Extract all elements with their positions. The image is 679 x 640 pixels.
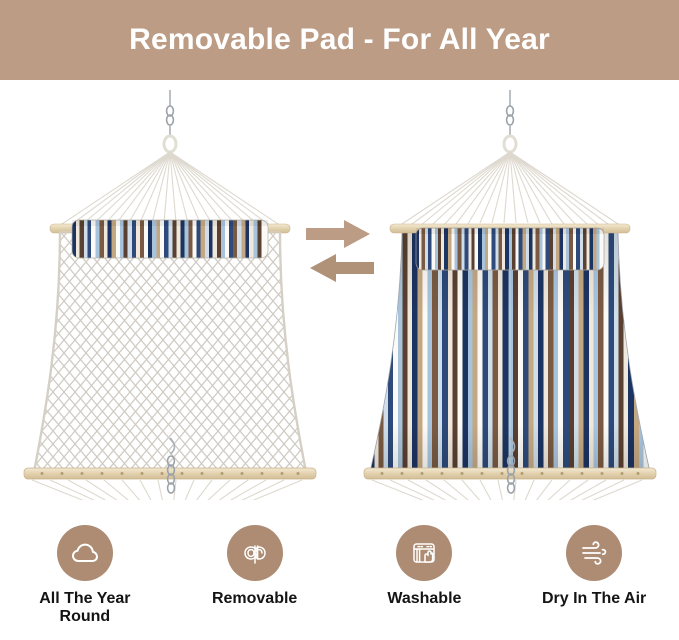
rope-tie-icon: [239, 537, 271, 569]
feature-icon-badge: [396, 525, 452, 581]
striped-pillow: [416, 228, 604, 270]
bottom-spreader-bar: [364, 468, 656, 479]
feature-washable: Washable: [340, 525, 510, 608]
rope-mesh-body: [34, 232, 306, 472]
top-ring: [504, 136, 516, 152]
top-suspension-ropes: [396, 152, 624, 228]
infographic-page: Removable Pad - For All Year: [0, 0, 679, 640]
wind-icon: [578, 537, 610, 569]
feature-label: Dry In The Air: [542, 590, 646, 608]
hand-wash-icon: [408, 537, 440, 569]
page-title: Removable Pad - For All Year: [129, 23, 550, 57]
bottom-suspension-ropes: [372, 480, 642, 500]
bottom-suspension-ropes: [32, 480, 302, 500]
header-banner: Removable Pad - For All Year: [0, 0, 679, 80]
cloud-icon: [69, 537, 101, 569]
feature-icon-badge: [566, 525, 622, 581]
feature-label: Washable: [387, 590, 461, 608]
padded-hammock-image: [360, 80, 660, 500]
striped-pillow: [72, 220, 268, 258]
feature-icon-badge: [57, 525, 113, 581]
feature-label: Removable: [212, 590, 297, 608]
feature-dry-in-the-air: Dry In The Air: [509, 525, 679, 608]
product-stage: [0, 80, 679, 520]
feature-all-the-year-round: All The Year Round: [0, 525, 170, 627]
top-chain: [507, 90, 514, 136]
feature-label: All The Year Round: [20, 590, 150, 627]
top-ring: [164, 136, 176, 152]
feature-icon-badge: [227, 525, 283, 581]
feature-row: All The Year Round Removable: [0, 525, 679, 640]
top-suspension-ropes: [56, 152, 284, 228]
top-chain: [167, 90, 174, 136]
bottom-spreader-bar: [24, 468, 316, 479]
feature-removable: Removable: [170, 525, 340, 608]
rope-hammock-image: [20, 80, 320, 500]
